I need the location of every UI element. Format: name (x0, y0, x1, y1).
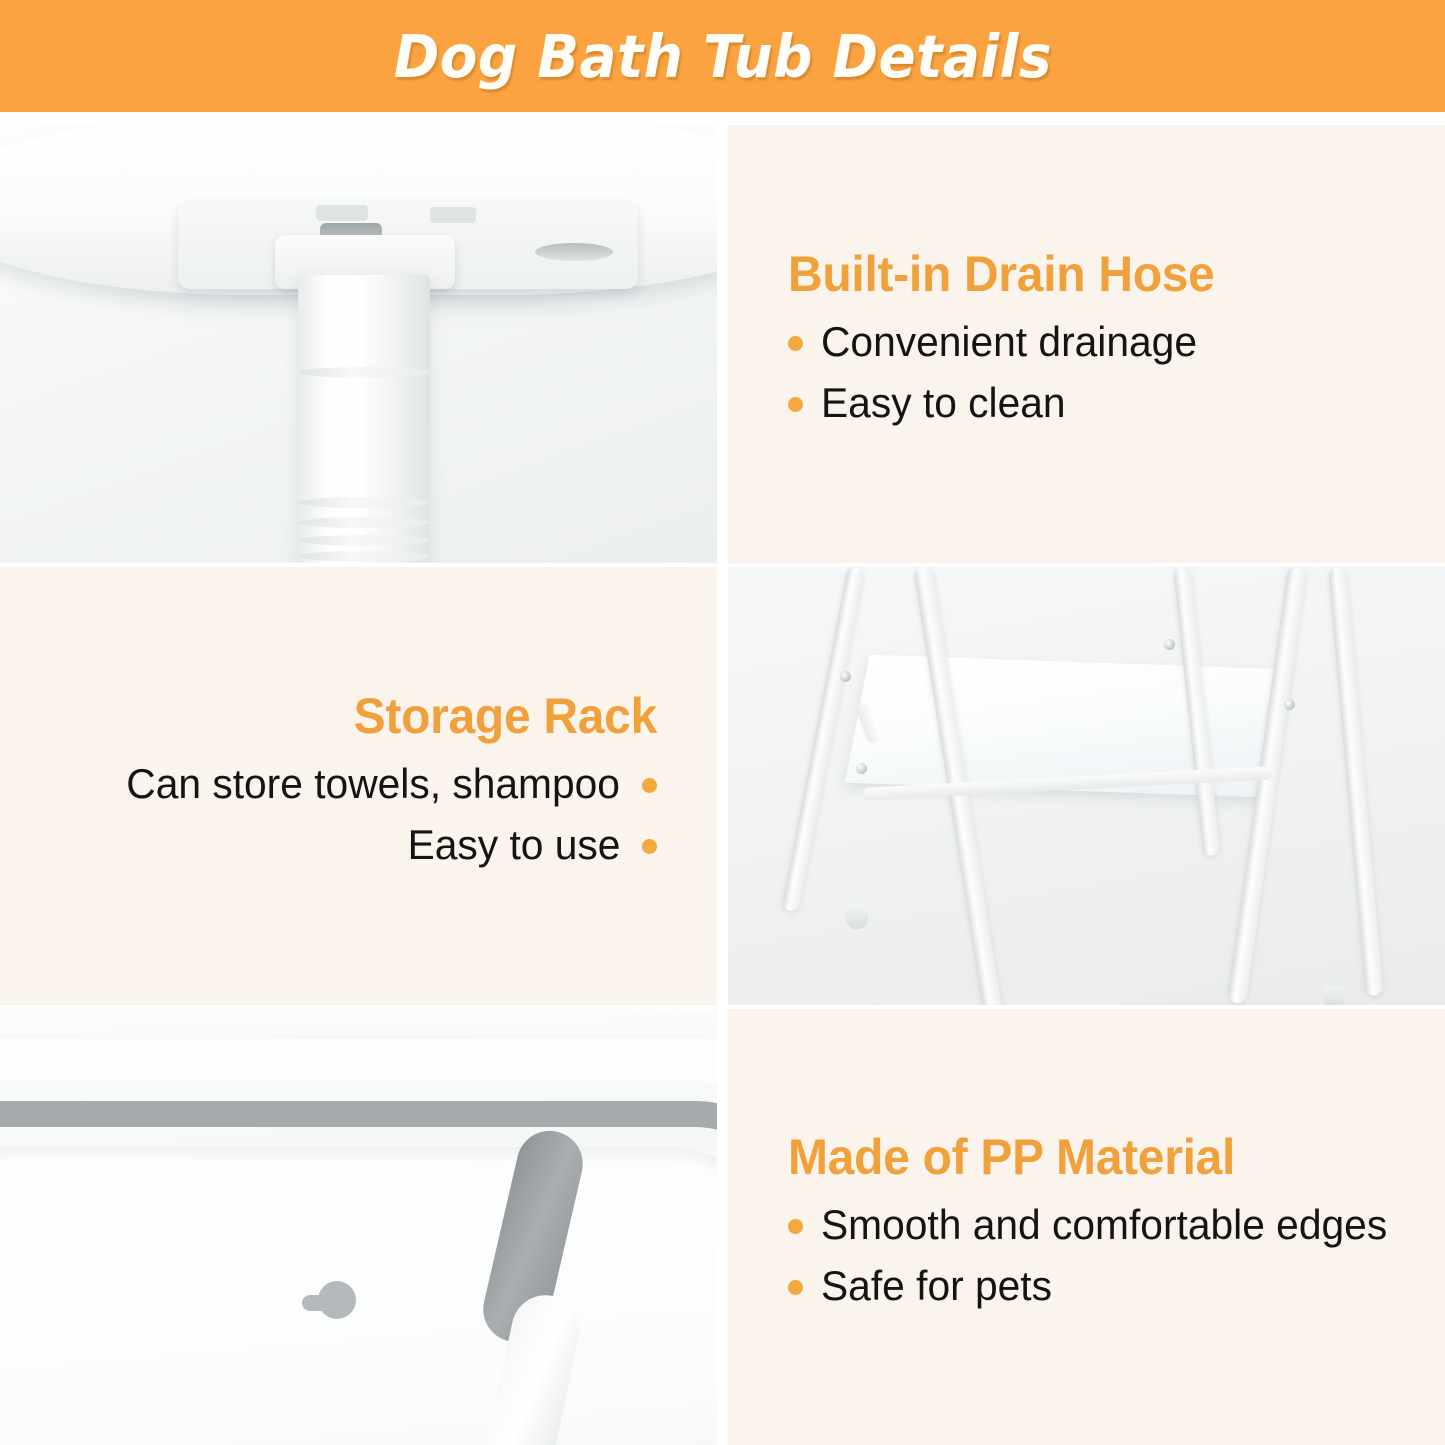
tube-ring-shape (298, 517, 430, 528)
pp-material-image (0, 1009, 717, 1445)
rack-foot-shape (1323, 985, 1345, 1005)
section-pp-material: Made of PP Material Smooth and comfortab… (0, 1009, 1445, 1445)
bullet-label: Can store towels, shampoo (126, 760, 620, 807)
bullet-label: Easy to clean (821, 379, 1066, 426)
bullet-dot-icon (788, 1219, 803, 1234)
pp-material-photo (0, 1009, 717, 1445)
drain-plug-tab-shape (302, 1295, 334, 1311)
bullet-dot-icon (788, 1280, 803, 1295)
bullet-label: Safe for pets (821, 1262, 1052, 1309)
panel-divider (717, 1009, 728, 1445)
bullet-dot-icon (642, 839, 657, 854)
bullet-label: Easy to use (407, 821, 620, 868)
bullet-label: Convenient drainage (821, 318, 1197, 365)
tube-ring-shape (298, 497, 430, 508)
drain-hose-image (0, 125, 717, 563)
screw-shape (1164, 639, 1175, 650)
bullet-list-drain-hose: Convenient drainage Easy to clean (788, 314, 1415, 440)
section-drain-hose: Built-in Drain Hose Convenient drainage … (0, 125, 1445, 563)
bullet-list-pp-material: Smooth and comfortable edges Safe for pe… (788, 1197, 1415, 1323)
bullet-dot-icon (642, 778, 657, 793)
section-storage-rack: Storage Rack Can store towels, shampoo E… (0, 567, 1445, 1005)
bullet-label: Smooth and comfortable edges (821, 1201, 1387, 1248)
tub-inner-basin-shape (0, 1147, 717, 1445)
panel-divider (717, 567, 728, 1005)
drain-hose-text-panel: Built-in Drain Hose Convenient drainage … (728, 125, 1445, 563)
rack-leg-shape (1328, 567, 1383, 996)
bullet-dot-icon (788, 397, 803, 412)
screw-shape (856, 763, 867, 774)
list-item: Smooth and comfortable edges (788, 1201, 1415, 1248)
bullet-dot-icon (788, 336, 803, 351)
product-detail-infographic: Dog Bath Tub Details (0, 0, 1445, 1445)
tube-ring-shape (298, 551, 430, 562)
section-title-pp-material: Made of PP Material (788, 1131, 1390, 1184)
screw-shape (840, 671, 851, 682)
storage-rack-text-panel: Storage Rack Can store towels, shampoo E… (0, 567, 717, 1005)
tube-ring-shape (298, 535, 430, 546)
storage-rack-photo (728, 567, 1445, 1005)
list-item: Easy to clean (788, 379, 1415, 426)
section-title-drain-hose: Built-in Drain Hose (788, 248, 1390, 301)
panel-divider (717, 125, 728, 563)
page-title: Dog Bath Tub Details (393, 22, 1051, 91)
drain-slot-shape (316, 205, 368, 221)
section-title-storage-rack: Storage Rack (65, 690, 657, 743)
drain-slot-shape (430, 207, 476, 223)
list-item: Safe for pets (788, 1262, 1415, 1309)
list-item: Convenient drainage (788, 318, 1415, 365)
tube-ring-shape (298, 367, 430, 378)
header-banner: Dog Bath Tub Details (0, 0, 1445, 112)
list-item: Can store towels, shampoo (40, 760, 657, 807)
list-item: Easy to use (40, 821, 657, 868)
screw-shape (1284, 699, 1295, 710)
drain-hole-shape (535, 243, 613, 261)
bullet-list-storage-rack: Can store towels, shampoo Easy to use (40, 756, 657, 882)
pp-material-text-panel: Made of PP Material Smooth and comfortab… (728, 1009, 1445, 1445)
storage-rack-image (728, 567, 1445, 1005)
drain-hose-photo (0, 125, 717, 563)
rack-foot-shape (846, 905, 868, 929)
